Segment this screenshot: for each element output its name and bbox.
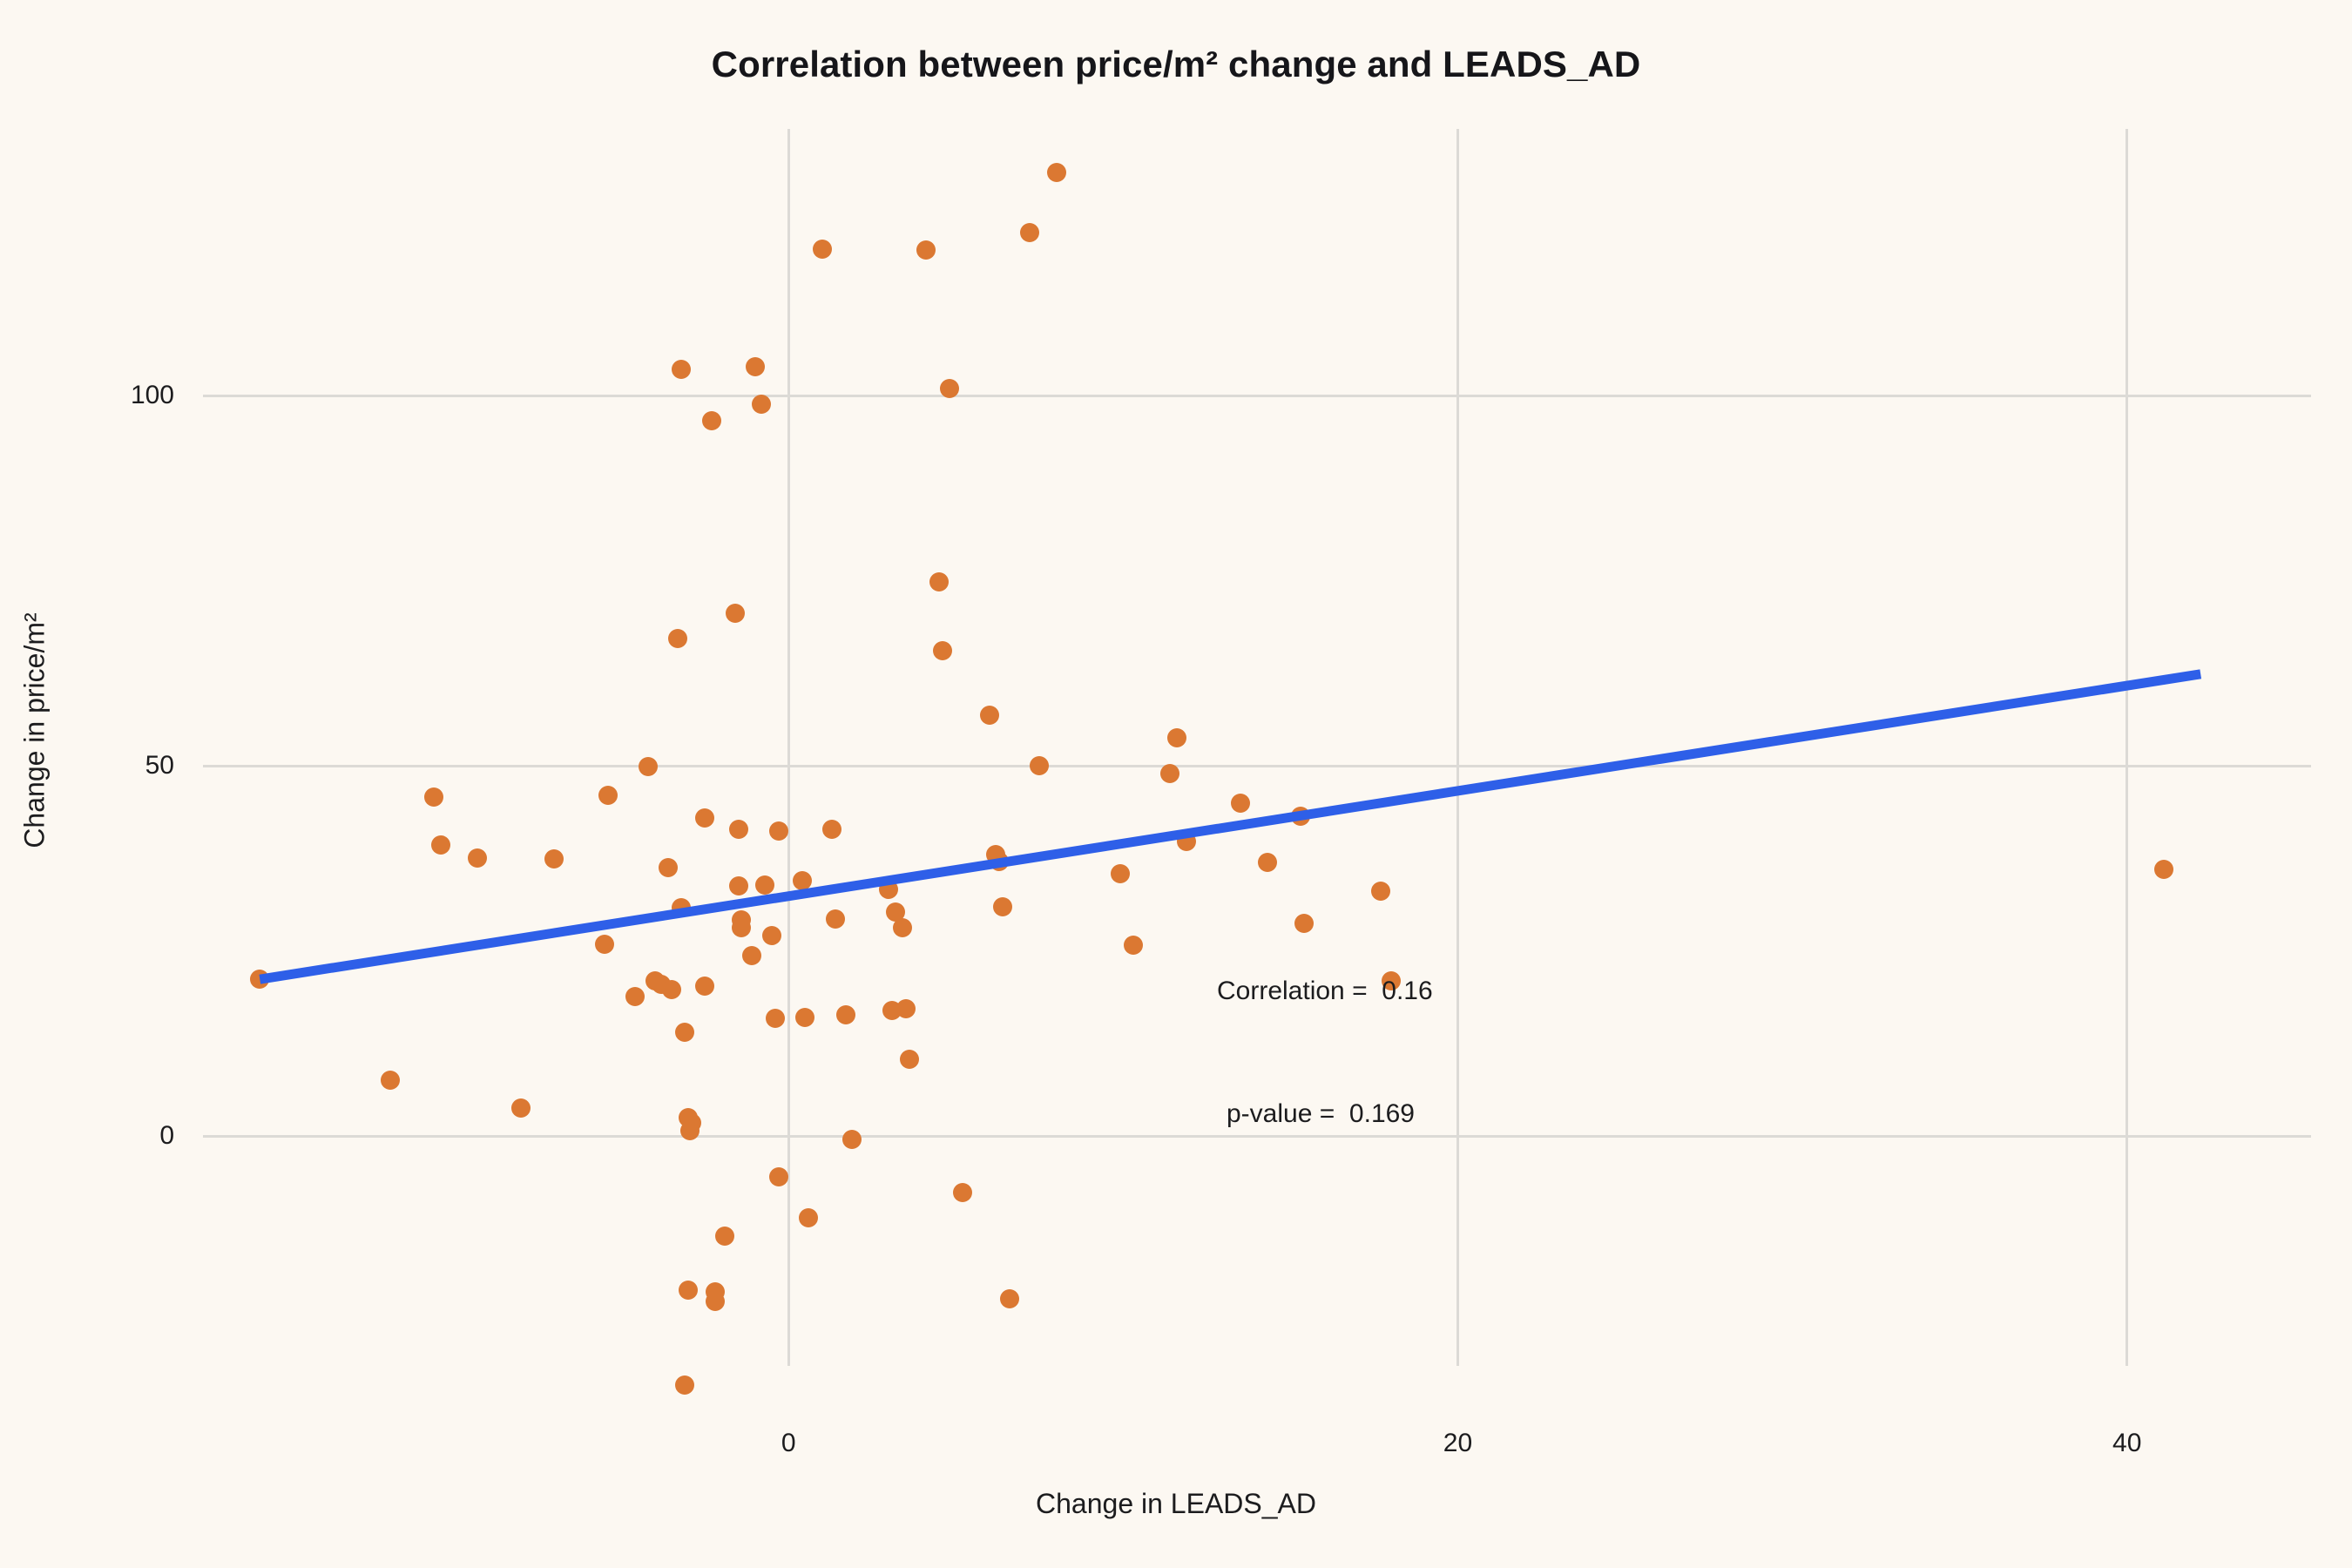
data-point xyxy=(826,909,845,929)
data-point xyxy=(675,1375,694,1395)
data-point xyxy=(990,852,1009,871)
y-tick-label: 50 xyxy=(145,751,174,781)
data-point xyxy=(544,849,564,868)
y-tick-label: 0 xyxy=(159,1121,174,1151)
data-point xyxy=(766,1009,785,1028)
data-point xyxy=(746,357,765,376)
x-tick-label: 0 xyxy=(781,1429,796,1458)
data-point xyxy=(1291,807,1310,826)
scatter-chart-figure: Correlation between price/m² change and … xyxy=(0,0,2352,1568)
chart-title: Correlation between price/m² change and … xyxy=(0,44,2352,85)
gridline-horizontal xyxy=(203,395,2311,397)
x-tick-label: 20 xyxy=(1443,1429,1472,1458)
data-point xyxy=(1167,728,1186,747)
data-point xyxy=(940,379,959,398)
data-point xyxy=(900,1050,919,1069)
data-point xyxy=(1111,864,1130,883)
data-point xyxy=(668,629,687,648)
x-tick-label: 40 xyxy=(2112,1429,2141,1458)
data-point xyxy=(662,980,681,999)
data-point xyxy=(752,395,771,414)
x-axis-tick-labels: 02040 xyxy=(203,1429,2311,1467)
data-point xyxy=(980,706,999,725)
data-point xyxy=(595,935,614,954)
data-point xyxy=(916,240,936,260)
data-point xyxy=(424,787,443,807)
data-point xyxy=(769,1167,788,1186)
data-point xyxy=(799,1208,818,1227)
data-point xyxy=(1371,882,1390,901)
data-point xyxy=(702,411,721,430)
data-point xyxy=(715,1227,734,1246)
x-axis-title: Change in LEADS_AD xyxy=(0,1488,2352,1520)
data-point xyxy=(1124,936,1143,955)
data-point xyxy=(1047,163,1066,182)
data-point xyxy=(672,898,691,917)
gridline-vertical xyxy=(2126,129,2128,1366)
data-point xyxy=(953,1183,972,1202)
data-point xyxy=(893,918,912,937)
data-point xyxy=(706,1292,725,1311)
data-point xyxy=(732,918,751,937)
data-point xyxy=(381,1071,400,1090)
gridline-vertical xyxy=(1456,129,1459,1366)
gridline-horizontal xyxy=(203,1135,2311,1138)
data-point xyxy=(511,1098,531,1118)
y-tick-label: 100 xyxy=(131,381,174,410)
data-point xyxy=(813,240,832,259)
data-point xyxy=(680,1121,700,1140)
data-point xyxy=(679,1281,698,1300)
data-point xyxy=(729,876,748,896)
data-point xyxy=(675,1023,694,1042)
data-point xyxy=(625,987,645,1006)
data-point xyxy=(1294,914,1314,933)
data-point xyxy=(1000,1289,1019,1308)
data-point xyxy=(933,641,952,660)
data-point xyxy=(729,820,748,839)
data-point xyxy=(1030,756,1049,775)
data-point xyxy=(250,970,269,989)
data-point xyxy=(879,880,898,899)
data-point xyxy=(795,1008,814,1027)
data-point xyxy=(672,360,691,379)
data-point xyxy=(431,835,450,855)
data-point xyxy=(836,1005,855,1024)
data-point xyxy=(598,786,618,805)
correlation-annotation: Correlation = 0.16 xyxy=(1217,977,1433,1006)
regression-trendline xyxy=(260,674,2200,979)
gridline-horizontal xyxy=(203,765,2311,767)
y-axis-tick-labels: 100500 xyxy=(61,129,174,1366)
p-value-annotation: p-value = 0.169 xyxy=(1227,1099,1415,1129)
data-point xyxy=(1160,764,1179,783)
data-point xyxy=(1258,853,1277,872)
data-point xyxy=(929,572,949,591)
data-point xyxy=(742,946,761,965)
data-point xyxy=(659,858,678,877)
data-point xyxy=(695,808,714,828)
data-point xyxy=(1177,832,1196,851)
data-point xyxy=(993,897,1012,916)
plot-area xyxy=(203,129,2311,1366)
data-point xyxy=(896,999,916,1018)
trendline-svg xyxy=(203,129,2311,1366)
data-point xyxy=(639,757,658,776)
data-point xyxy=(762,926,781,945)
data-point xyxy=(468,848,487,868)
data-point xyxy=(755,875,774,895)
data-point xyxy=(695,977,714,996)
data-point xyxy=(769,821,788,841)
data-point xyxy=(2154,860,2173,879)
data-point xyxy=(842,1130,862,1149)
data-point xyxy=(1231,794,1250,813)
data-point xyxy=(726,604,745,623)
data-point xyxy=(1020,223,1039,242)
data-point xyxy=(793,871,812,890)
y-axis-title: Change in price/m² xyxy=(19,426,51,1036)
data-point xyxy=(822,820,841,839)
